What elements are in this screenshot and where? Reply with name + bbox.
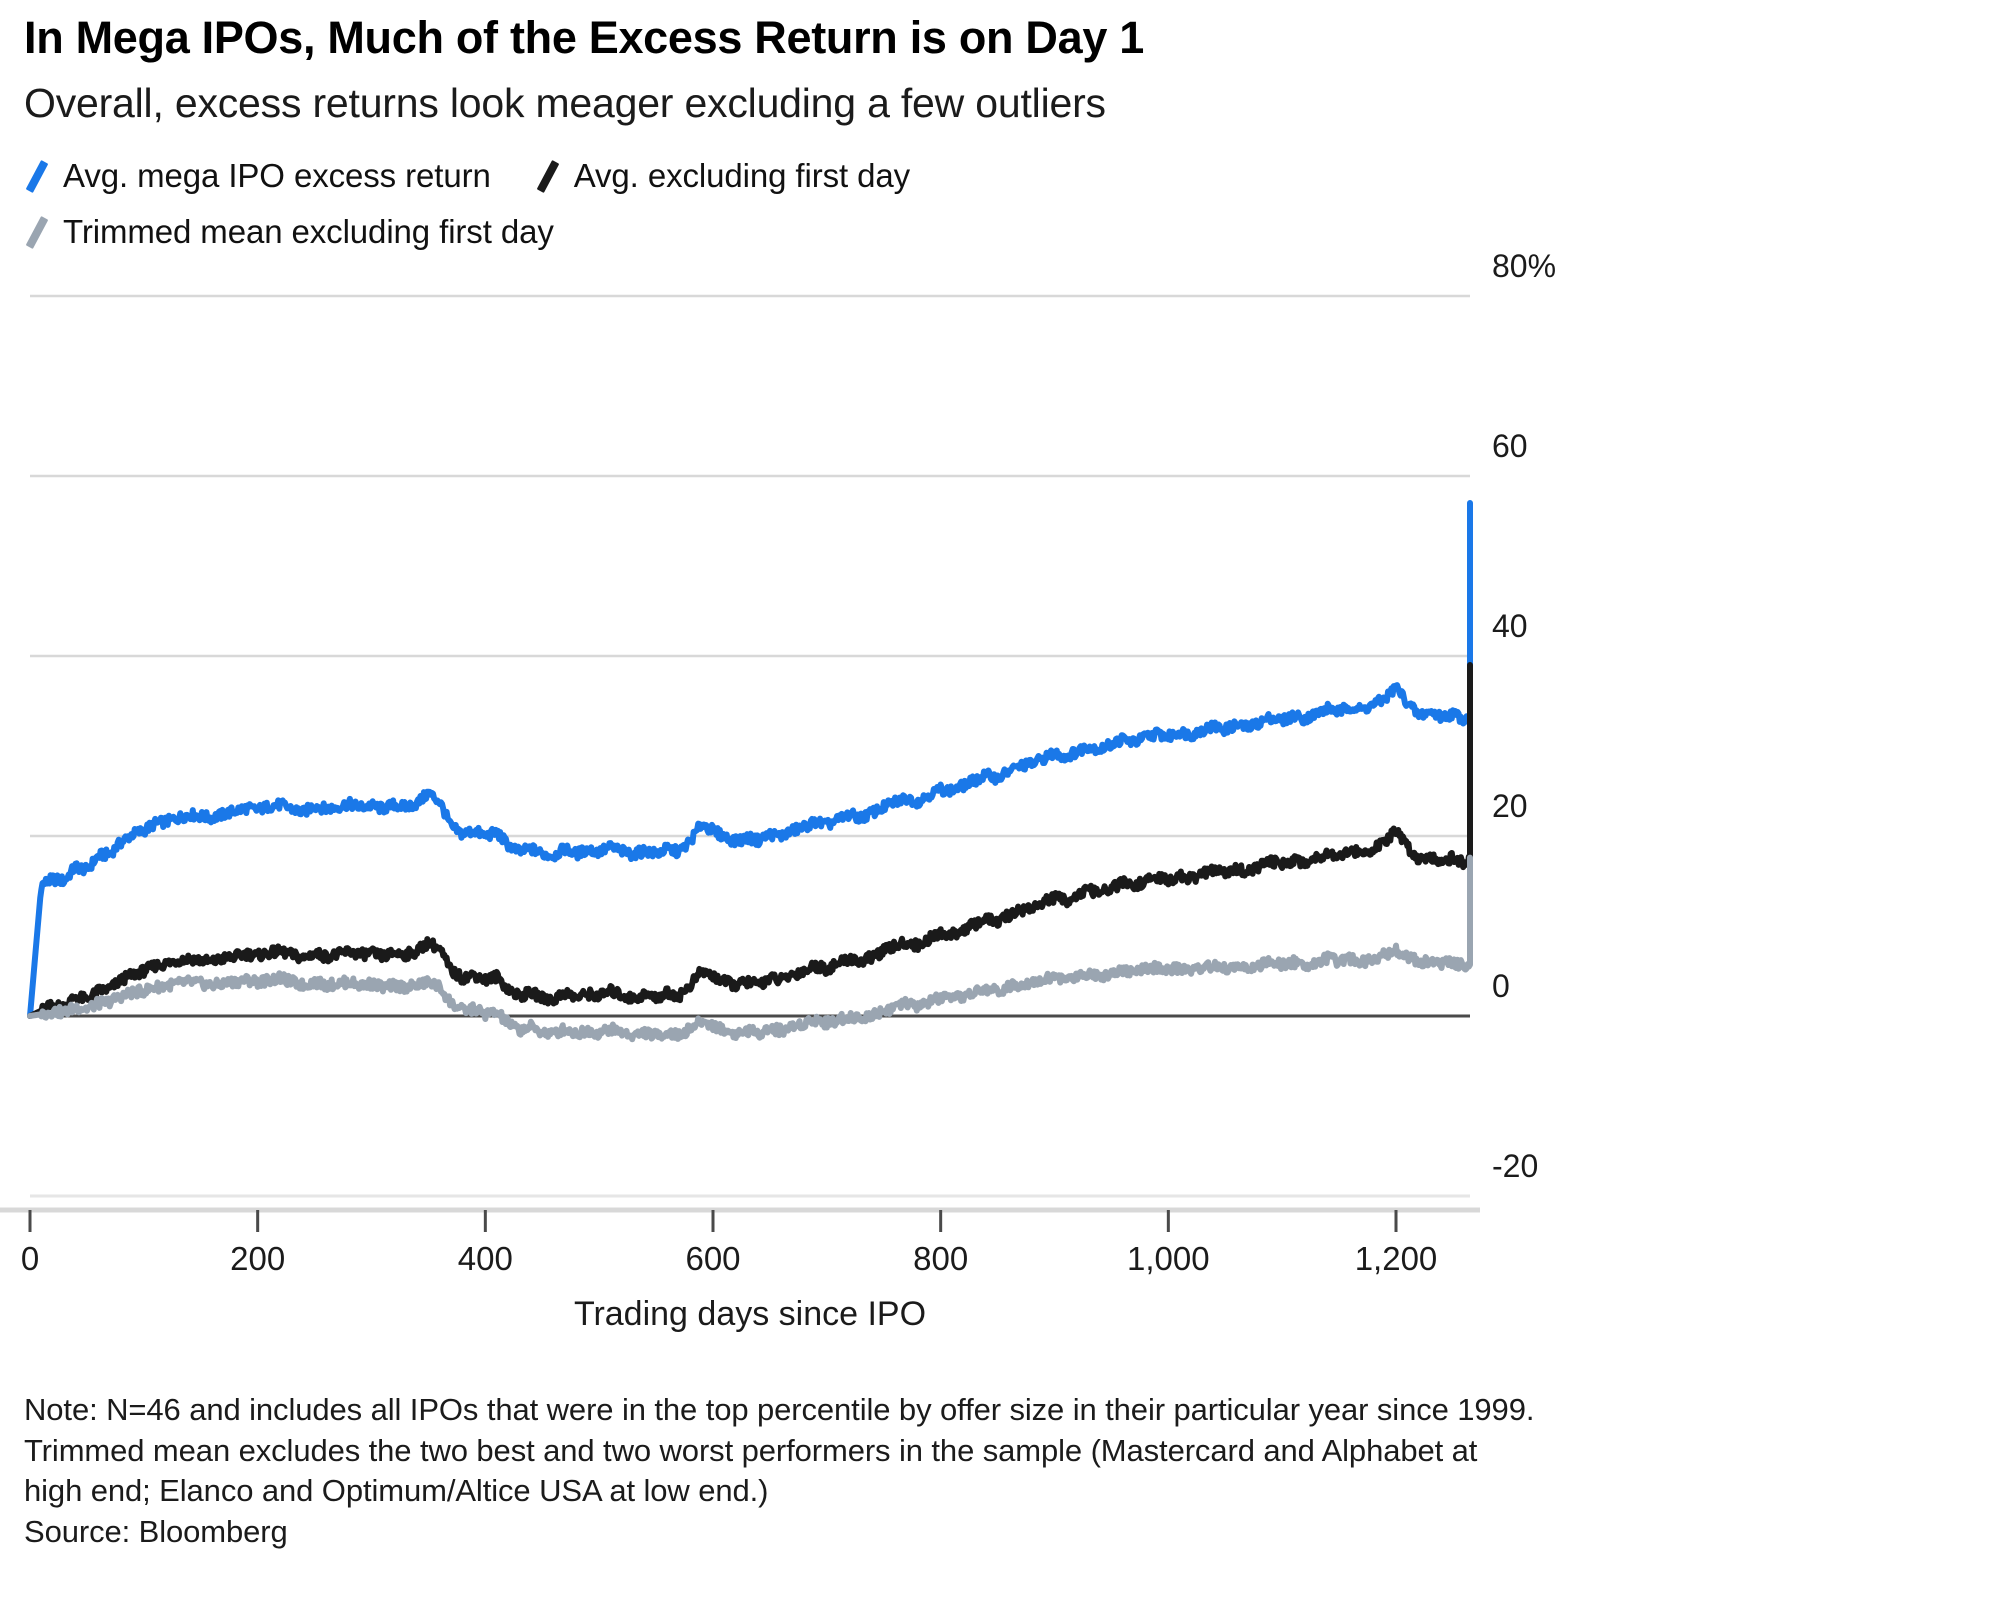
legend-row-1: Avg. mega IPO excess return Avg. excludi… <box>24 148 1924 204</box>
x-tick-label-800: 800 <box>851 1240 1031 1278</box>
diagonal-slash-icon <box>24 215 50 249</box>
y-tick-label--20: -20 <box>1492 1148 1538 1185</box>
y-tick-label-0: 0 <box>1492 968 1510 1005</box>
y-tick-label-60: 60 <box>1492 428 1528 465</box>
y-tick-label-80: 80% <box>1492 248 1556 285</box>
page-title: In Mega IPOs, Much of the Excess Return … <box>24 14 1924 61</box>
legend-label: Avg. excluding first day <box>574 157 910 195</box>
chart-page: In Mega IPOs, Much of the Excess Return … <box>0 0 2000 1598</box>
x-tick-label-400: 400 <box>395 1240 575 1278</box>
x-tick-label-200: 200 <box>168 1240 348 1278</box>
line-chart-svg <box>0 258 2000 1248</box>
legend-row-2: Trimmed mean excluding first day <box>24 204 1924 260</box>
page-subtitle: Overall, excess returns look meager excl… <box>24 82 1924 125</box>
diagonal-slash-icon <box>24 159 50 193</box>
legend-label: Avg. mega IPO excess return <box>63 157 491 195</box>
legend-item-avg-excl-first-day[interactable]: Avg. excluding first day <box>535 157 910 195</box>
x-axis-title: Trading days since IPO <box>0 1295 1500 1334</box>
footnote-source: Source: Bloomberg <box>24 1512 1964 1553</box>
chart-plot-area: -20020406080% 02004006008001,0001,200 <box>0 258 2000 1248</box>
x-tick-label-600: 600 <box>623 1240 803 1278</box>
legend-label: Trimmed mean excluding first day <box>63 213 554 251</box>
diagonal-slash-icon <box>535 159 561 193</box>
legend-item-trimmed-mean[interactable]: Trimmed mean excluding first day <box>24 213 554 251</box>
x-tick-label-1000: 1,000 <box>1078 1240 1258 1278</box>
y-tick-label-20: 20 <box>1492 788 1528 825</box>
y-tick-label-40: 40 <box>1492 608 1528 645</box>
x-tick-label-0: 0 <box>0 1240 120 1278</box>
chart-legend: Avg. mega IPO excess return Avg. excludi… <box>24 148 1924 260</box>
legend-item-avg-mega-ipo[interactable]: Avg. mega IPO excess return <box>24 157 491 195</box>
footnote-line-1: Note: N=46 and includes all IPOs that we… <box>24 1390 1964 1431</box>
series-line-0 <box>30 503 1470 1016</box>
x-tick-label-1200: 1,200 <box>1306 1240 1486 1278</box>
footnote-line-3: high end; Elanco and Optimum/Altice USA … <box>24 1471 1964 1512</box>
footnote-line-2: Trimmed mean excludes the two best and t… <box>24 1431 1964 1472</box>
chart-footnote: Note: N=46 and includes all IPOs that we… <box>24 1390 1964 1552</box>
